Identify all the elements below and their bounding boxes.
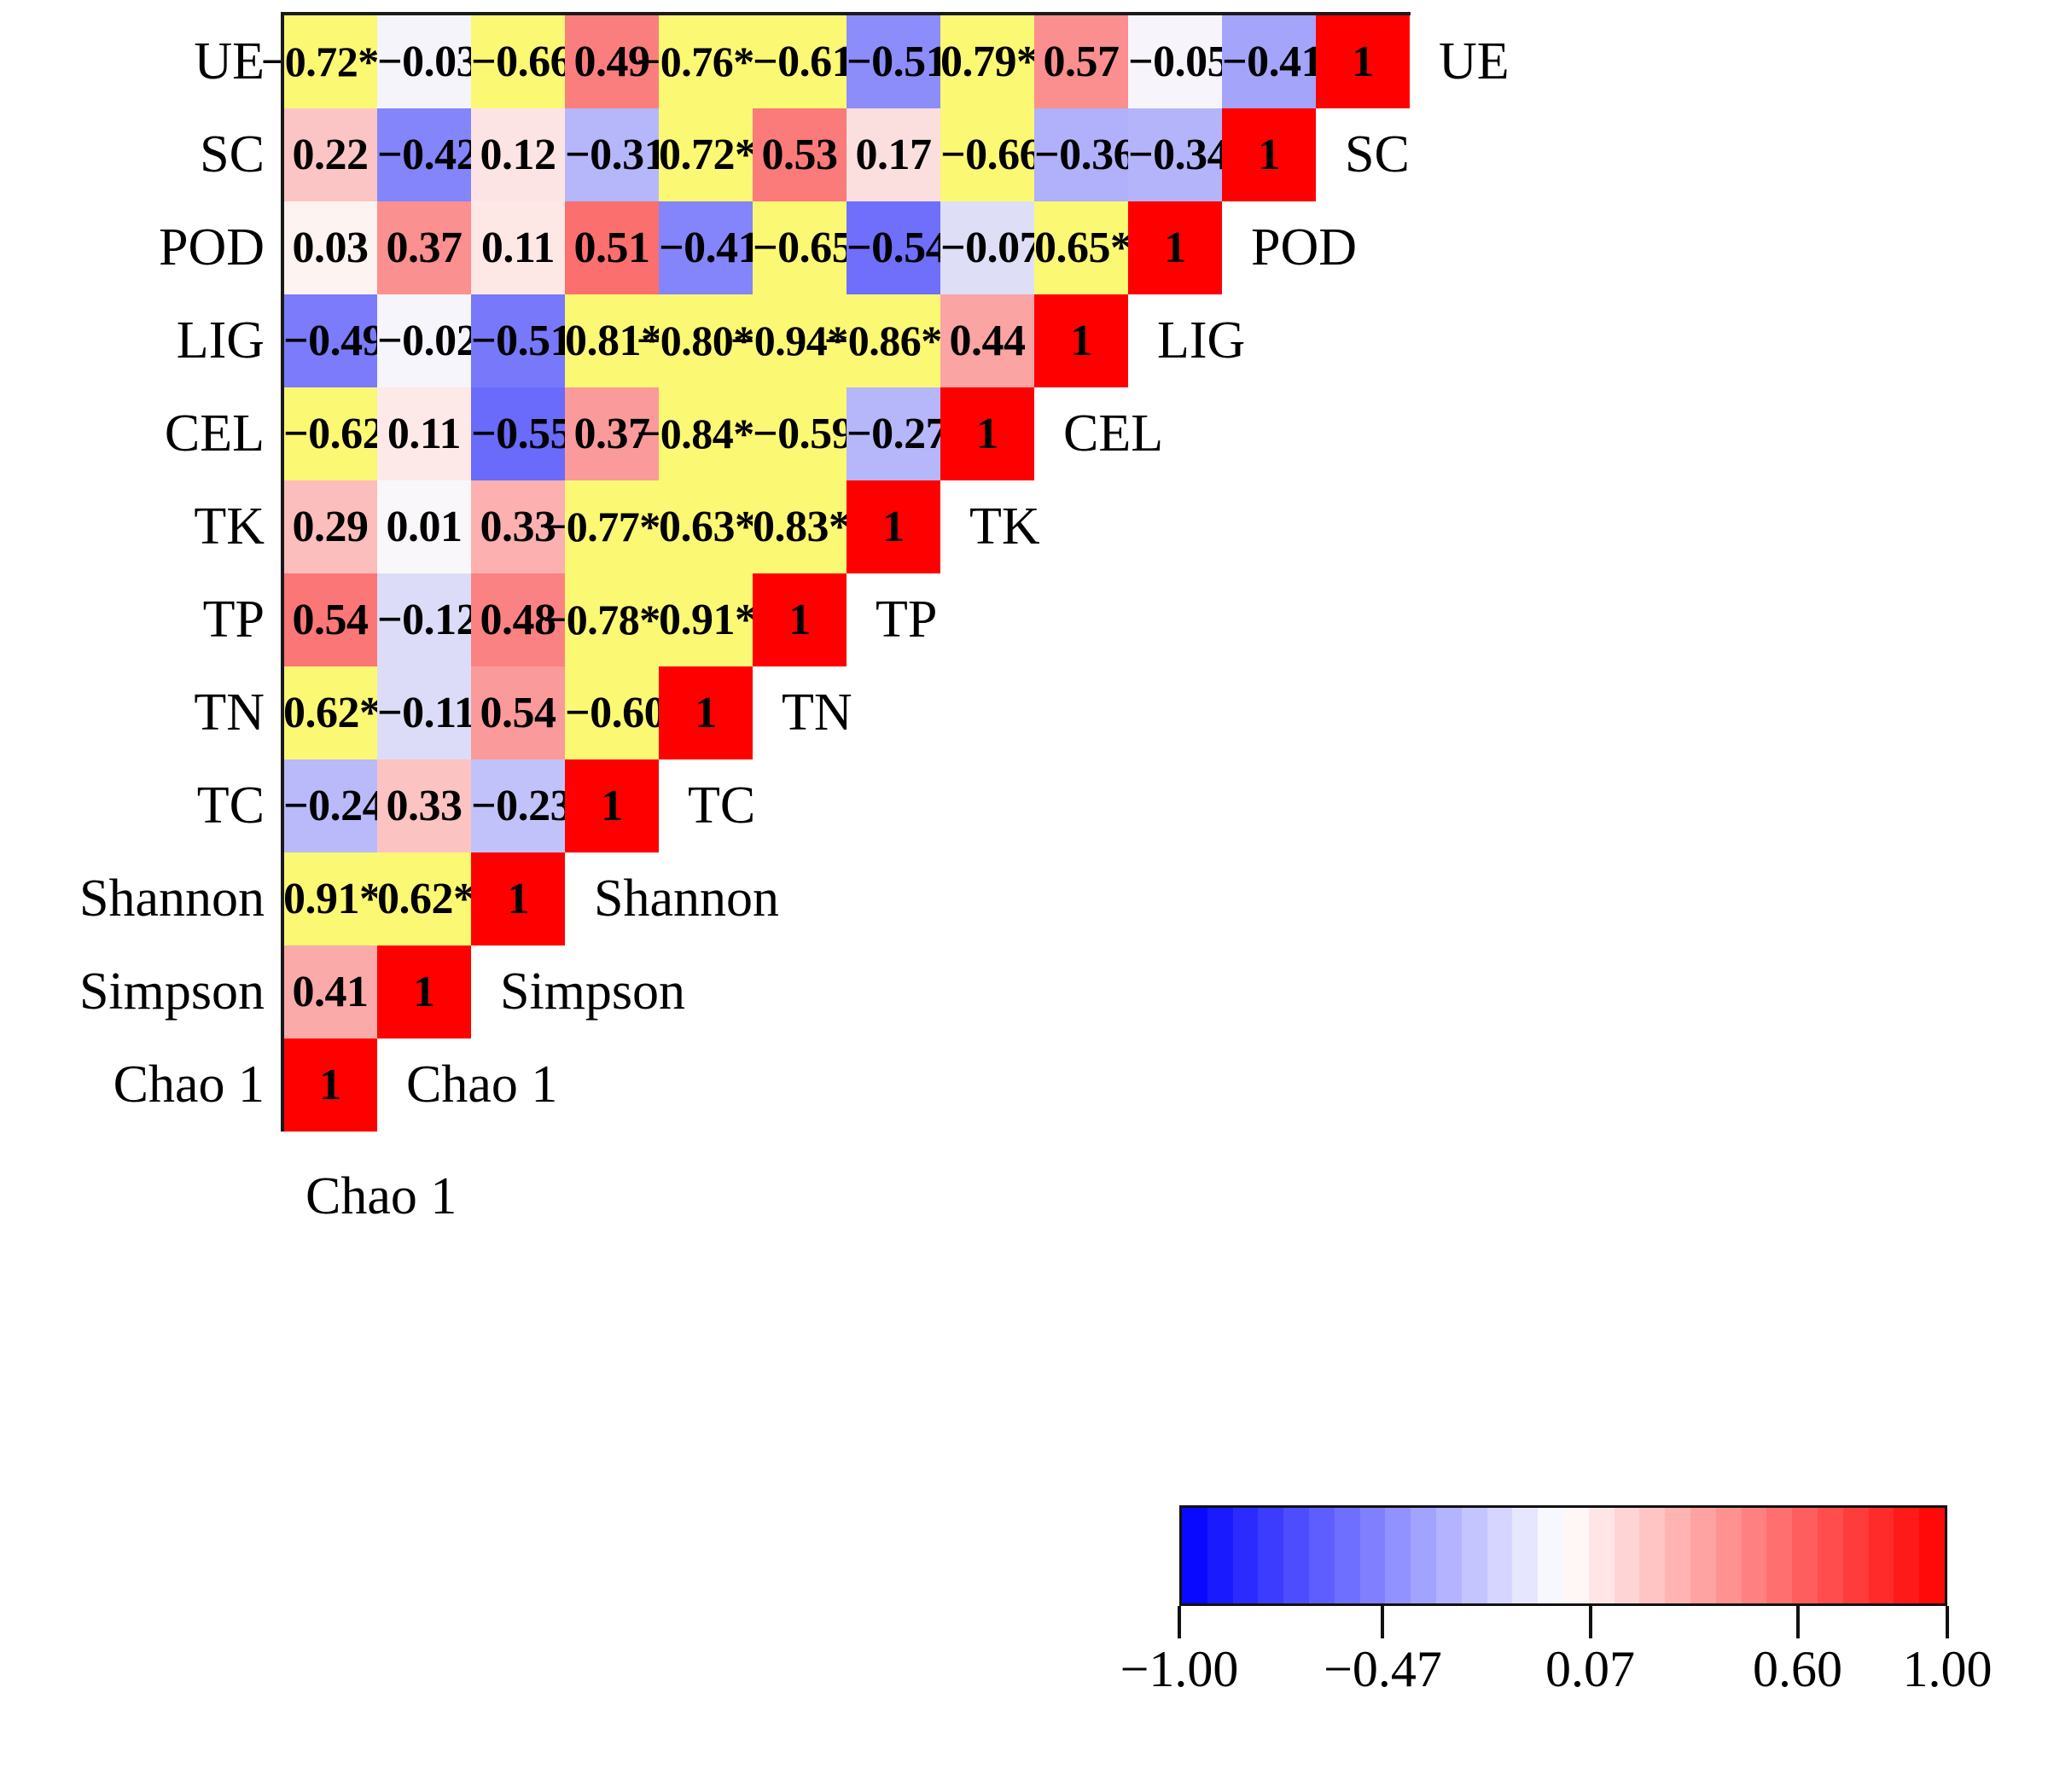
matrix-cell: −0.36 bbox=[1034, 108, 1128, 201]
cell-value: −0.31 bbox=[565, 108, 659, 201]
matrix-cell: 1 bbox=[1316, 15, 1410, 108]
cell-value: −0.51 bbox=[471, 294, 565, 387]
matrix-row: UE−0.72**−0.03−0.66*0.49−0.76**−0.61*−0.… bbox=[0, 15, 2048, 108]
matrix-cell: 0.57 bbox=[1034, 15, 1128, 108]
matrix-cell: −0.84** bbox=[659, 387, 753, 480]
matrix-cell: 0.03 bbox=[283, 201, 377, 294]
cell-value: −0.23 bbox=[471, 759, 565, 852]
matrix-cell: −0.27 bbox=[847, 387, 940, 480]
diagonal-label-tk: TK bbox=[969, 480, 1040, 573]
cell-value: 1 bbox=[659, 666, 753, 759]
matrix-cell: −0.60* bbox=[565, 666, 659, 759]
cell-value: −0.12 bbox=[377, 573, 471, 666]
cell-value: 0.54 bbox=[471, 666, 565, 759]
colorbar-segment bbox=[1258, 1508, 1283, 1603]
cell-value: 0.03 bbox=[283, 201, 377, 294]
matrix-cell: 1 bbox=[659, 666, 753, 759]
matrix-cell: −0.34 bbox=[1128, 108, 1222, 201]
colorbar-tick bbox=[1589, 1606, 1592, 1638]
cell-value: −0.36 bbox=[1034, 108, 1128, 201]
colorbar-segment bbox=[1360, 1508, 1386, 1603]
cell-value: −0.24 bbox=[283, 759, 377, 852]
matrix-left-axis bbox=[281, 15, 284, 1132]
matrix-cell: −0.07 bbox=[940, 201, 1034, 294]
matrix-cell: −0.62* bbox=[283, 387, 377, 480]
colorbar-segment bbox=[1792, 1508, 1818, 1603]
cell-value: 1 bbox=[753, 573, 847, 666]
colorbar-segment bbox=[1690, 1508, 1716, 1603]
matrix-cell: 1 bbox=[847, 480, 940, 573]
matrix-row: Chao 11Chao 1 bbox=[0, 1039, 2048, 1132]
cell-value: 0.12 bbox=[471, 108, 565, 201]
cell-value: 0.63* bbox=[659, 480, 753, 573]
colorbar-segment bbox=[1283, 1508, 1309, 1603]
matrix-row: TP0.54−0.120.48−0.78**0.91**1TP bbox=[0, 573, 2048, 666]
cell-value: 0.72** bbox=[659, 108, 753, 201]
cell-value: −0.51 bbox=[847, 15, 940, 108]
colorbar-segment bbox=[1894, 1508, 1919, 1603]
cell-value: 0.62* bbox=[377, 852, 471, 945]
row-label-lig: LIG bbox=[177, 294, 265, 387]
cell-value: −0.41 bbox=[1222, 15, 1316, 108]
matrix-cell: 0.41 bbox=[283, 945, 377, 1039]
cell-value: 1 bbox=[1128, 201, 1222, 294]
row-label-simpson: Simpson bbox=[79, 945, 265, 1039]
diagonal-label-tc: TC bbox=[688, 759, 755, 852]
matrix-cell: −0.31 bbox=[565, 108, 659, 201]
matrix-cell: 0.54 bbox=[283, 573, 377, 666]
diagonal-label-simpson: Simpson bbox=[500, 945, 685, 1039]
matrix-cell: −0.12 bbox=[377, 573, 471, 666]
colorbar-segment bbox=[1742, 1508, 1767, 1603]
colorbar-segment bbox=[1639, 1508, 1665, 1603]
matrix-cell: 0.54 bbox=[471, 666, 565, 759]
cell-value: 0.11 bbox=[377, 387, 471, 480]
cell-value: −0.54 bbox=[847, 201, 940, 294]
colorbar-tick-label: 1.00 bbox=[1903, 1640, 1993, 1699]
matrix-cell: 0.01 bbox=[377, 480, 471, 573]
cell-value: 1 bbox=[565, 759, 659, 852]
matrix-cell: −0.54 bbox=[847, 201, 940, 294]
matrix-cell: 0.53 bbox=[753, 108, 847, 201]
cell-value: 0.51 bbox=[565, 201, 659, 294]
colorbar-legend: −1.00−0.470.070.601.00 bbox=[1179, 1505, 1947, 1708]
matrix-row: TC−0.240.33−0.231TC bbox=[0, 759, 2048, 852]
matrix-cell: 1 bbox=[1222, 108, 1316, 201]
row-label-sc: SC bbox=[200, 108, 265, 201]
cell-value: 0.17 bbox=[847, 108, 940, 201]
cell-value: −0.34 bbox=[1128, 108, 1222, 201]
cell-value: 0.91** bbox=[283, 852, 377, 945]
matrix-cell: 0.11 bbox=[471, 201, 565, 294]
matrix-cell: −0.11 bbox=[377, 666, 471, 759]
colorbar-segment bbox=[1233, 1508, 1259, 1603]
matrix-cell: −0.05 bbox=[1128, 15, 1222, 108]
cell-value: 1 bbox=[1222, 108, 1316, 201]
cell-value: −0.60* bbox=[565, 666, 659, 759]
colorbar-tick-label: −0.47 bbox=[1324, 1640, 1442, 1699]
matrix-cell: 0.51 bbox=[565, 201, 659, 294]
matrix-cell: 1 bbox=[377, 945, 471, 1039]
cell-value: 0.65* bbox=[1034, 201, 1128, 294]
cell-value: 0.79** bbox=[940, 15, 1034, 108]
matrix-cell: −0.51 bbox=[471, 294, 565, 387]
cell-value: 0.01 bbox=[377, 480, 471, 573]
matrix-cell: 0.33 bbox=[377, 759, 471, 852]
matrix-cell: −0.03 bbox=[377, 15, 471, 108]
colorbar-segment bbox=[1665, 1508, 1690, 1603]
diagonal-label-tn: TN bbox=[782, 666, 852, 759]
matrix-cell: −0.24 bbox=[283, 759, 377, 852]
cell-value: 0.44 bbox=[940, 294, 1034, 387]
matrix-cell: 0.62* bbox=[377, 852, 471, 945]
colorbar-segment bbox=[1309, 1508, 1335, 1603]
row-label-tn: TN bbox=[194, 666, 265, 759]
matrix-cell: 0.62* bbox=[283, 666, 377, 759]
colorbar-tick bbox=[1946, 1606, 1949, 1638]
colorbar-tick-label: 0.60 bbox=[1753, 1640, 1842, 1699]
cell-value: −0.49 bbox=[283, 294, 377, 387]
cell-value: −0.05 bbox=[1128, 15, 1222, 108]
colorbar-ticks bbox=[1179, 1606, 1947, 1640]
colorbar-segment bbox=[1207, 1508, 1233, 1603]
colorbar-tick-labels: −1.00−0.470.070.601.00 bbox=[1179, 1640, 1947, 1708]
diagonal-label-cel: CEL bbox=[1063, 387, 1163, 480]
cell-value: 0.33 bbox=[377, 759, 471, 852]
diagonal-label-shannon: Shannon bbox=[594, 852, 779, 945]
cell-value: 1 bbox=[940, 387, 1034, 480]
matrix-cell: −0.66* bbox=[471, 15, 565, 108]
colorbar-segment bbox=[1843, 1508, 1869, 1603]
matrix-top-axis bbox=[281, 12, 1411, 15]
matrix-cell: −0.76** bbox=[659, 15, 753, 108]
matrix-cell: −0.65* bbox=[753, 201, 847, 294]
matrix-cell: −0.59* bbox=[753, 387, 847, 480]
matrix-cell: −0.23 bbox=[471, 759, 565, 852]
cell-value: 0.11 bbox=[471, 201, 565, 294]
colorbar-segment bbox=[1411, 1508, 1436, 1603]
cell-value: −0.07 bbox=[940, 201, 1034, 294]
colorbar-gradient bbox=[1179, 1505, 1947, 1606]
cell-value: 1 bbox=[471, 852, 565, 945]
row-label-ue: UE bbox=[194, 15, 265, 108]
cell-value: −0.55 bbox=[471, 387, 565, 480]
colorbar-segment bbox=[1919, 1508, 1945, 1603]
colorbar-segment bbox=[1615, 1508, 1640, 1603]
colorbar-segment bbox=[1182, 1508, 1207, 1603]
cell-value: −0.66* bbox=[471, 15, 565, 108]
colorbar-segment bbox=[1512, 1508, 1538, 1603]
cell-value: 0.54 bbox=[283, 573, 377, 666]
matrix-cell: 0.12 bbox=[471, 108, 565, 201]
colorbar-segment bbox=[1436, 1508, 1462, 1603]
cell-value: −0.66* bbox=[940, 108, 1034, 201]
cell-value: −0.59* bbox=[753, 387, 847, 480]
matrix-cell: −0.78** bbox=[565, 573, 659, 666]
cell-value: −0.42 bbox=[377, 108, 471, 201]
matrix-cell: −0.66* bbox=[940, 108, 1034, 201]
matrix-cell: 0.91** bbox=[283, 852, 377, 945]
matrix-row: SC0.22−0.420.12−0.310.72**0.530.17−0.66*… bbox=[0, 108, 2048, 201]
colorbar-segment bbox=[1716, 1508, 1742, 1603]
cell-value: −0.03 bbox=[377, 15, 471, 108]
matrix-cell: 1 bbox=[565, 759, 659, 852]
figure-root: UE−0.72**−0.03−0.66*0.49−0.76**−0.61*−0.… bbox=[0, 0, 2048, 1792]
cell-value: 0.37 bbox=[377, 201, 471, 294]
matrix-cell: −0.41 bbox=[659, 201, 753, 294]
cell-value: 0.83** bbox=[753, 480, 847, 573]
matrix-row: Simpson0.411Simpson bbox=[0, 945, 2048, 1039]
colorbar-segment bbox=[1335, 1508, 1360, 1603]
matrix-cell: 0.91** bbox=[659, 573, 753, 666]
colorbar-tick bbox=[1796, 1606, 1800, 1638]
colorbar-segment bbox=[1462, 1508, 1487, 1603]
matrix-cell: 1 bbox=[1034, 294, 1128, 387]
diagonal-label-pod: POD bbox=[1251, 201, 1357, 294]
colorbar-tick-label: −1.00 bbox=[1120, 1640, 1239, 1699]
row-label-tp: TP bbox=[203, 573, 265, 666]
matrix-row: TN0.62*−0.110.54−0.60*1TN bbox=[0, 666, 2048, 759]
matrix-cell: −0.55 bbox=[471, 387, 565, 480]
cell-value: 1 bbox=[1034, 294, 1128, 387]
cell-value: 0.41 bbox=[283, 945, 377, 1039]
matrix-cell: −0.49 bbox=[283, 294, 377, 387]
cell-value: −0.61* bbox=[753, 15, 847, 108]
cell-value: 1 bbox=[1316, 15, 1410, 108]
cell-value: 1 bbox=[283, 1039, 377, 1132]
matrix-cell: 0.11 bbox=[377, 387, 471, 480]
matrix-cell: 0.22 bbox=[283, 108, 377, 201]
matrix-cell: 0.17 bbox=[847, 108, 940, 201]
matrix-row: LIG−0.49−0.02−0.510.81**−0.80**−0.94**−0… bbox=[0, 294, 2048, 387]
diagonal-label-sc: SC bbox=[1345, 108, 1410, 201]
cell-value: 0.91** bbox=[659, 573, 753, 666]
cell-value: 0.53 bbox=[753, 108, 847, 201]
colorbar-tick bbox=[1381, 1606, 1384, 1638]
matrix-cell: −0.77** bbox=[565, 480, 659, 573]
row-label-tc: TC bbox=[197, 759, 265, 852]
bottom-axis-label-chao-1: Chao 1 bbox=[305, 1150, 457, 1243]
matrix-cell: 0.72** bbox=[659, 108, 753, 201]
matrix-cell: 0.29 bbox=[283, 480, 377, 573]
matrix-cell: −0.86** bbox=[847, 294, 940, 387]
cell-value: 0.29 bbox=[283, 480, 377, 573]
matrix-cell: 0.63* bbox=[659, 480, 753, 573]
matrix-cell: 0.44 bbox=[940, 294, 1034, 387]
matrix-cell: 1 bbox=[753, 573, 847, 666]
cell-value: −0.41 bbox=[659, 201, 753, 294]
diagonal-label-tp: TP bbox=[876, 573, 937, 666]
matrix-row: CEL−0.62*0.11−0.550.37−0.84**−0.59*−0.27… bbox=[0, 387, 2048, 480]
row-label-tk: TK bbox=[194, 480, 265, 573]
cell-value: 0.22 bbox=[283, 108, 377, 201]
colorbar-segment bbox=[1487, 1508, 1513, 1603]
cell-value: −0.27 bbox=[847, 387, 940, 480]
row-label-cel: CEL bbox=[165, 387, 265, 480]
matrix-row: POD0.030.370.110.51−0.41−0.65*−0.54−0.07… bbox=[0, 201, 2048, 294]
diagonal-label-lig: LIG bbox=[1157, 294, 1245, 387]
cell-value: −0.02 bbox=[377, 294, 471, 387]
matrix-cell: −0.41 bbox=[1222, 15, 1316, 108]
colorbar-segment bbox=[1563, 1508, 1589, 1603]
matrix-cell: 0.83** bbox=[753, 480, 847, 573]
matrix-cell: 0.37 bbox=[377, 201, 471, 294]
row-label-pod: POD bbox=[159, 201, 265, 294]
colorbar-segment bbox=[1538, 1508, 1563, 1603]
diagonal-label-ue: UE bbox=[1439, 15, 1510, 108]
matrix-cell: 0.65* bbox=[1034, 201, 1128, 294]
diagonal-label-chao-1: Chao 1 bbox=[406, 1039, 557, 1132]
cell-value: −0.11 bbox=[377, 666, 471, 759]
colorbar-segment bbox=[1385, 1508, 1411, 1603]
matrix-cell: −0.51 bbox=[847, 15, 940, 108]
colorbar-tick bbox=[1178, 1606, 1181, 1638]
matrix-cell: −0.42 bbox=[377, 108, 471, 201]
colorbar-segment bbox=[1766, 1508, 1792, 1603]
colorbar-segment bbox=[1589, 1508, 1615, 1603]
cell-value: 0.62* bbox=[283, 666, 377, 759]
colorbar-tick-label: 0.07 bbox=[1545, 1640, 1635, 1699]
matrix-cell: −0.61* bbox=[753, 15, 847, 108]
matrix-cell: −0.72** bbox=[283, 15, 377, 108]
cell-value: −0.62* bbox=[283, 387, 377, 480]
colorbar-segment bbox=[1818, 1508, 1843, 1603]
cell-value: 1 bbox=[377, 945, 471, 1039]
matrix-cell: 0.79** bbox=[940, 15, 1034, 108]
matrix-row: Shannon0.91**0.62*1Shannon bbox=[0, 852, 2048, 945]
row-label-shannon: Shannon bbox=[79, 852, 265, 945]
cell-value: 1 bbox=[847, 480, 940, 573]
matrix-cell: 1 bbox=[283, 1039, 377, 1132]
cell-value: 0.57 bbox=[1034, 15, 1128, 108]
matrix-cell: 1 bbox=[1128, 201, 1222, 294]
colorbar-segment bbox=[1869, 1508, 1894, 1603]
matrix-cell: 1 bbox=[471, 852, 565, 945]
matrix-cell: −0.02 bbox=[377, 294, 471, 387]
cell-value: −0.65* bbox=[753, 201, 847, 294]
matrix-cell: 1 bbox=[940, 387, 1034, 480]
matrix-row: TK0.290.010.33−0.77**0.63*0.83**1TK bbox=[0, 480, 2048, 573]
row-label-chao-1: Chao 1 bbox=[113, 1039, 265, 1132]
